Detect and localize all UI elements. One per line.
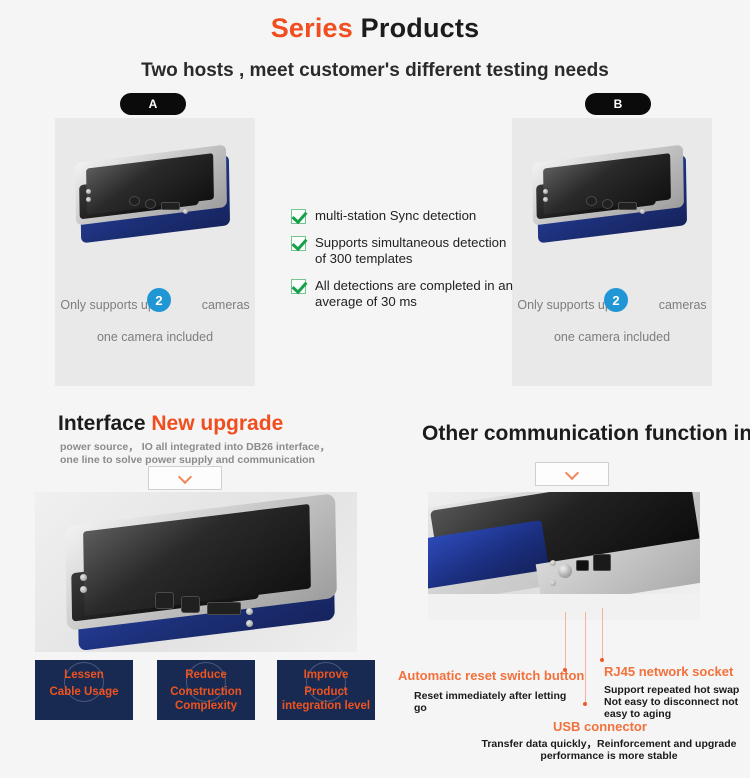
feature-label: Supports simultaneous detection of 300 t… bbox=[315, 235, 513, 267]
page-title-rest: Products bbox=[353, 13, 479, 43]
callout-leader-line-2 bbox=[585, 612, 586, 704]
camera-count-badge-a: 2 bbox=[147, 288, 171, 312]
interface-expand-button[interactable] bbox=[148, 466, 222, 490]
benefit-tile-line1: Lessen bbox=[35, 669, 133, 681]
interface-title-plain: Interface bbox=[58, 412, 146, 435]
callout-leader-line-3 bbox=[602, 608, 603, 660]
benefit-tile-line1: Reduce bbox=[157, 669, 255, 681]
interface-section-subtitle: power source， IO all integrated into DB2… bbox=[60, 441, 350, 467]
benefit-tile-improve-product-integration: Improve Product integration level bbox=[277, 660, 375, 720]
callout-title-reset-switch: Automatic reset switch button bbox=[398, 668, 584, 683]
feature-item: Supports simultaneous detection of 300 t… bbox=[291, 235, 513, 267]
benefit-tile-reduce-construction-complexity: Reduce Construction Complexity bbox=[157, 660, 255, 720]
product-photo-b bbox=[512, 126, 712, 276]
interface-device-photo bbox=[35, 492, 357, 652]
camera-support-suffix-a: cameras bbox=[202, 298, 250, 312]
interface-section-title: Interface New upgrade bbox=[58, 412, 283, 436]
callout-leader-dot-3 bbox=[600, 658, 604, 662]
checkmark-icon bbox=[291, 279, 306, 294]
camera-included-text-a: one camera included bbox=[55, 330, 255, 344]
callout-body-reset-switch: Reset immediately after letting go bbox=[414, 690, 574, 714]
camera-count-badge-b: 2 bbox=[604, 288, 628, 312]
benefit-tile-line2: Product integration level bbox=[277, 686, 375, 713]
chevron-down-icon bbox=[179, 475, 192, 482]
feature-label: multi-station Sync detection bbox=[315, 208, 476, 224]
callout-body-usb: Transfer data quickly，Reinforcement and … bbox=[468, 738, 750, 762]
product-card-b: Only supports up to cameras 2 one camera… bbox=[512, 118, 712, 386]
feature-item: All detections are completed in an avera… bbox=[291, 278, 513, 310]
checkmark-icon bbox=[291, 236, 306, 251]
ports-closeup-photo bbox=[428, 492, 700, 620]
host-badge-a: A bbox=[120, 93, 186, 115]
page-subtitle: Two hosts , meet customer's different te… bbox=[0, 60, 750, 82]
callout-leader-line-1 bbox=[565, 612, 566, 670]
other-expand-button[interactable] bbox=[535, 462, 609, 486]
feature-label: All detections are completed in an avera… bbox=[315, 278, 513, 310]
interface-title-highlight: New upgrade bbox=[151, 412, 283, 435]
product-photo-a bbox=[55, 126, 255, 276]
callout-body-rj45: Support repeated hot swap Not easy to di… bbox=[604, 684, 750, 720]
callout-title-rj45: RJ45 network socket bbox=[604, 664, 733, 679]
callout-title-usb: USB connector bbox=[553, 719, 647, 734]
benefit-tile-line1: Improve bbox=[277, 669, 375, 681]
page-title-highlight: Series bbox=[271, 13, 353, 43]
series-products-page: Series Products Two hosts , meet custome… bbox=[0, 0, 750, 778]
camera-support-suffix-b: cameras bbox=[659, 298, 707, 312]
product-card-a: Only supports up to cameras 2 one camera… bbox=[55, 118, 255, 386]
chevron-down-icon bbox=[566, 471, 579, 478]
feature-list: multi-station Sync detection Supports si… bbox=[291, 208, 513, 321]
other-section-title: Other communication function interface bbox=[422, 422, 750, 446]
camera-included-text-b: one camera included bbox=[512, 330, 712, 344]
feature-item: multi-station Sync detection bbox=[291, 208, 513, 224]
interface-subtitle-line1: power source， IO all integrated into DB2… bbox=[60, 441, 350, 454]
page-title: Series Products bbox=[0, 13, 750, 44]
callout-leader-dot-2 bbox=[583, 702, 587, 706]
host-badge-b: B bbox=[585, 93, 651, 115]
benefit-tile-lessen-cable-usage: Lessen Cable Usage bbox=[35, 660, 133, 720]
benefit-tile-line2: Construction Complexity bbox=[157, 686, 255, 713]
benefit-tile-line2: Cable Usage bbox=[35, 686, 133, 700]
checkmark-icon bbox=[291, 209, 306, 224]
